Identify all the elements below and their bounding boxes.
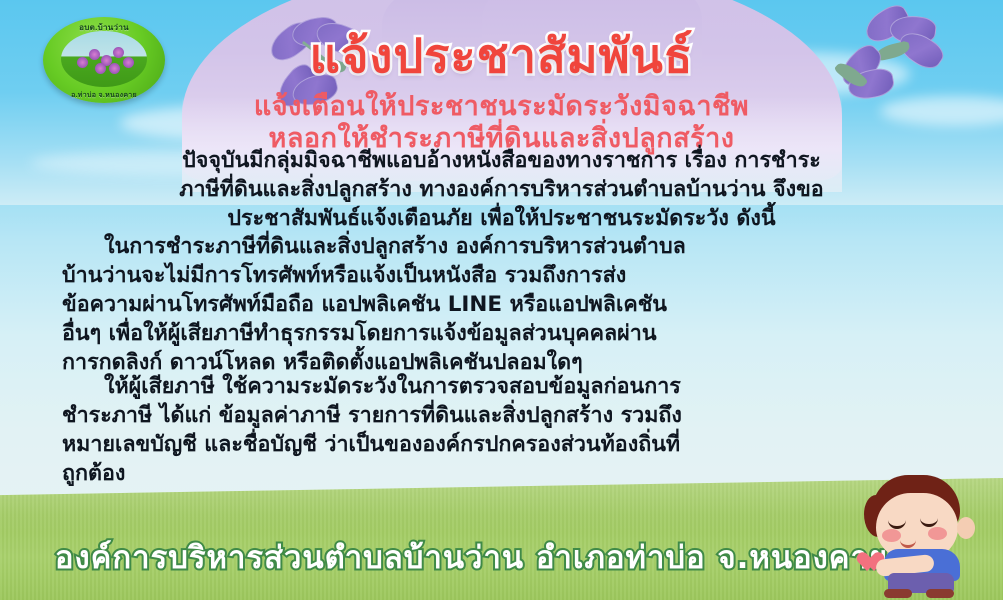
paragraph-line: ชำระภาษี ได้แก่ ข้อมูลค่าภาษี รายการที่ด… bbox=[62, 401, 952, 430]
paragraph-line: อื่นๆ เพื่อให้ผู้เสียภาษีทำธุรกรรมโดยการ… bbox=[62, 319, 952, 348]
boy-shoe bbox=[926, 589, 954, 598]
boy-ear bbox=[957, 517, 975, 539]
paragraph-line: หมายเลขบัญชี และชื่อบัญชี ว่าเป็นขององค์… bbox=[62, 430, 952, 459]
intro-paragraph: ปัจจุบันมีกลุ่มมิจฉาชีพแอบอ้างหนังสือของ… bbox=[26, 146, 977, 233]
paragraph-line: ให้ผู้เสียภาษี ใช้ความระมัดระวังในการตรว… bbox=[62, 372, 952, 401]
footer-organization-name: องค์การบริหารส่วนตำบลบ้านว่าน อำเภอท่าบ่… bbox=[0, 532, 1003, 582]
poster-headline: แจ้งประชาสัมพันธ์ bbox=[0, 18, 1003, 93]
paragraph-line: ข้อความผ่านโทรศัพท์มือถือ แอปพลิเคชัน LI… bbox=[62, 290, 952, 319]
announcement-poster: อบต.บ้านว่าน อ.ท่าบ่อ จ.หนองคาย แจ้งประช… bbox=[0, 0, 1003, 600]
boy-shoe bbox=[884, 589, 912, 598]
paragraph-line: ในการชำระภาษีที่ดินและสิ่งปลูกสร้าง องค์… bbox=[62, 232, 952, 261]
cartoon-boy-character bbox=[854, 473, 989, 598]
boy-cheek bbox=[882, 529, 901, 542]
boy-cheek bbox=[928, 527, 947, 540]
paragraph-line: บ้านว่านจะไม่มีการโทรศัพท์หรือแจ้งเป็นหน… bbox=[62, 261, 952, 290]
paragraph-line: ประชาสัมพันธ์แจ้งเตือนภัย เพื่อให้ประชาช… bbox=[26, 204, 977, 233]
paragraph-line: ภาษีที่ดินและสิ่งปลูกสร้าง ทางองค์การบริ… bbox=[26, 175, 977, 204]
paragraph-3: ให้ผู้เสียภาษี ใช้ความระมัดระวังในการตรว… bbox=[62, 372, 952, 488]
paragraph-line: ปัจจุบันมีกลุ่มมิจฉาชีพแอบอ้างหนังสือของ… bbox=[26, 146, 977, 175]
paragraph-2: ในการชำระภาษีที่ดินและสิ่งปลูกสร้าง องค์… bbox=[62, 232, 952, 377]
